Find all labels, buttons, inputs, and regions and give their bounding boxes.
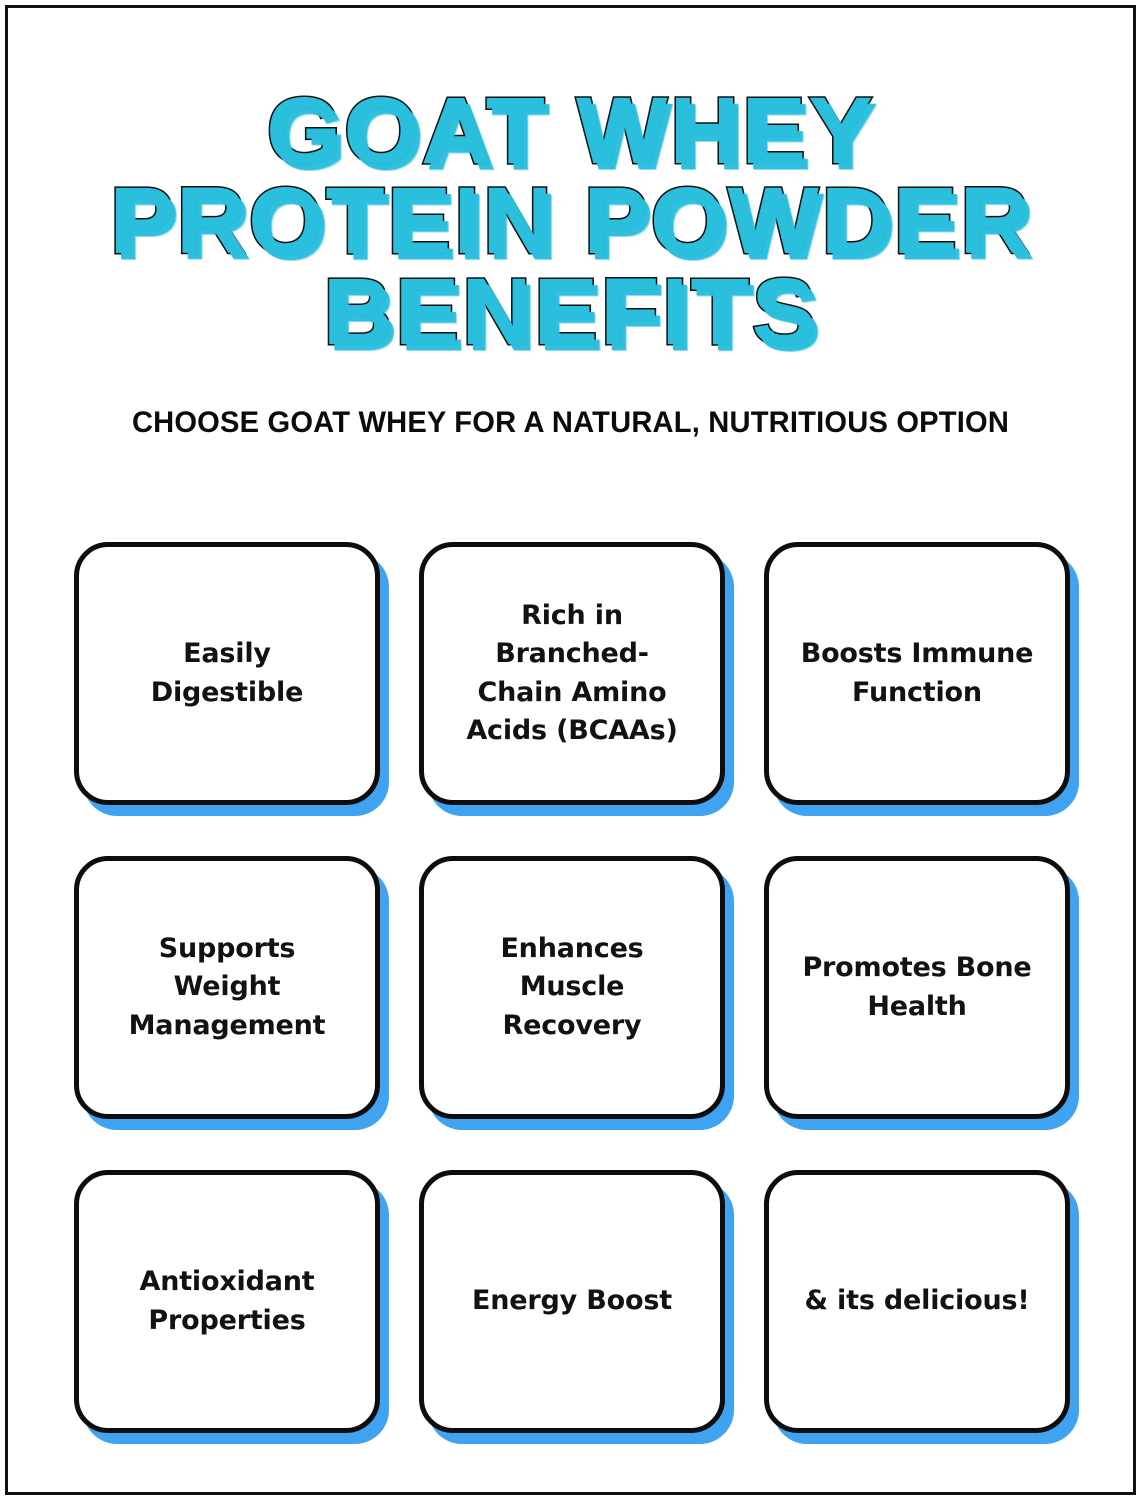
card-face: Energy Boost (419, 1170, 725, 1433)
benefit-label: Enhances Muscle Recovery (500, 930, 643, 1045)
title-line-1: GOAT WHEY (0, 86, 1141, 176)
poster-subtitle: CHOOSE GOAT WHEY FOR A NATURAL, NUTRITIO… (25, 406, 1116, 440)
benefits-grid: Easily Digestible Rich in Branched- Chai… (74, 542, 1074, 1433)
benefit-card-enhances-muscle-recovery: Enhances Muscle Recovery (419, 856, 725, 1119)
benefit-label: Rich in Branched- Chain Amino Acids (BCA… (466, 597, 677, 750)
title-line-2: PROTEIN POWDER (0, 176, 1141, 266)
card-face: Antioxidant Properties (74, 1170, 380, 1433)
benefit-card-its-delicious: & its delicious! (764, 1170, 1070, 1433)
card-face: Boosts Immune Function (764, 542, 1070, 805)
poster-frame: GOAT WHEY PROTEIN POWDER BENEFITS CHOOSE… (5, 5, 1136, 1495)
card-face: Easily Digestible (74, 542, 380, 805)
benefit-card-supports-weight-management: Supports Weight Management (74, 856, 380, 1119)
card-face: Enhances Muscle Recovery (419, 856, 725, 1119)
benefit-label: Energy Boost (472, 1282, 672, 1320)
benefit-card-rich-in-bcaas: Rich in Branched- Chain Amino Acids (BCA… (419, 542, 725, 805)
benefit-card-easily-digestible: Easily Digestible (74, 542, 380, 805)
benefit-card-antioxidant-properties: Antioxidant Properties (74, 1170, 380, 1433)
benefit-label: Supports Weight Management (129, 930, 326, 1045)
benefit-card-energy-boost: Energy Boost (419, 1170, 725, 1433)
card-face: Promotes Bone Health (764, 856, 1070, 1119)
benefit-card-promotes-bone-health: Promotes Bone Health (764, 856, 1070, 1119)
card-face: Supports Weight Management (74, 856, 380, 1119)
benefit-card-boosts-immune-function: Boosts Immune Function (764, 542, 1070, 805)
benefit-label: Easily Digestible (151, 635, 303, 712)
benefit-label: & its delicious! (805, 1282, 1030, 1320)
benefit-label: Boosts Immune Function (801, 635, 1034, 712)
title-line-3: BENEFITS (0, 267, 1141, 357)
card-face: & its delicious! (764, 1170, 1070, 1433)
poster-title: GOAT WHEY PROTEIN POWDER BENEFITS (8, 86, 1133, 357)
benefit-label: Promotes Bone Health (802, 949, 1031, 1026)
poster: GOAT WHEY PROTEIN POWDER BENEFITS CHOOSE… (0, 0, 1141, 1500)
card-face: Rich in Branched- Chain Amino Acids (BCA… (419, 542, 725, 805)
benefit-label: Antioxidant Properties (140, 1263, 315, 1340)
